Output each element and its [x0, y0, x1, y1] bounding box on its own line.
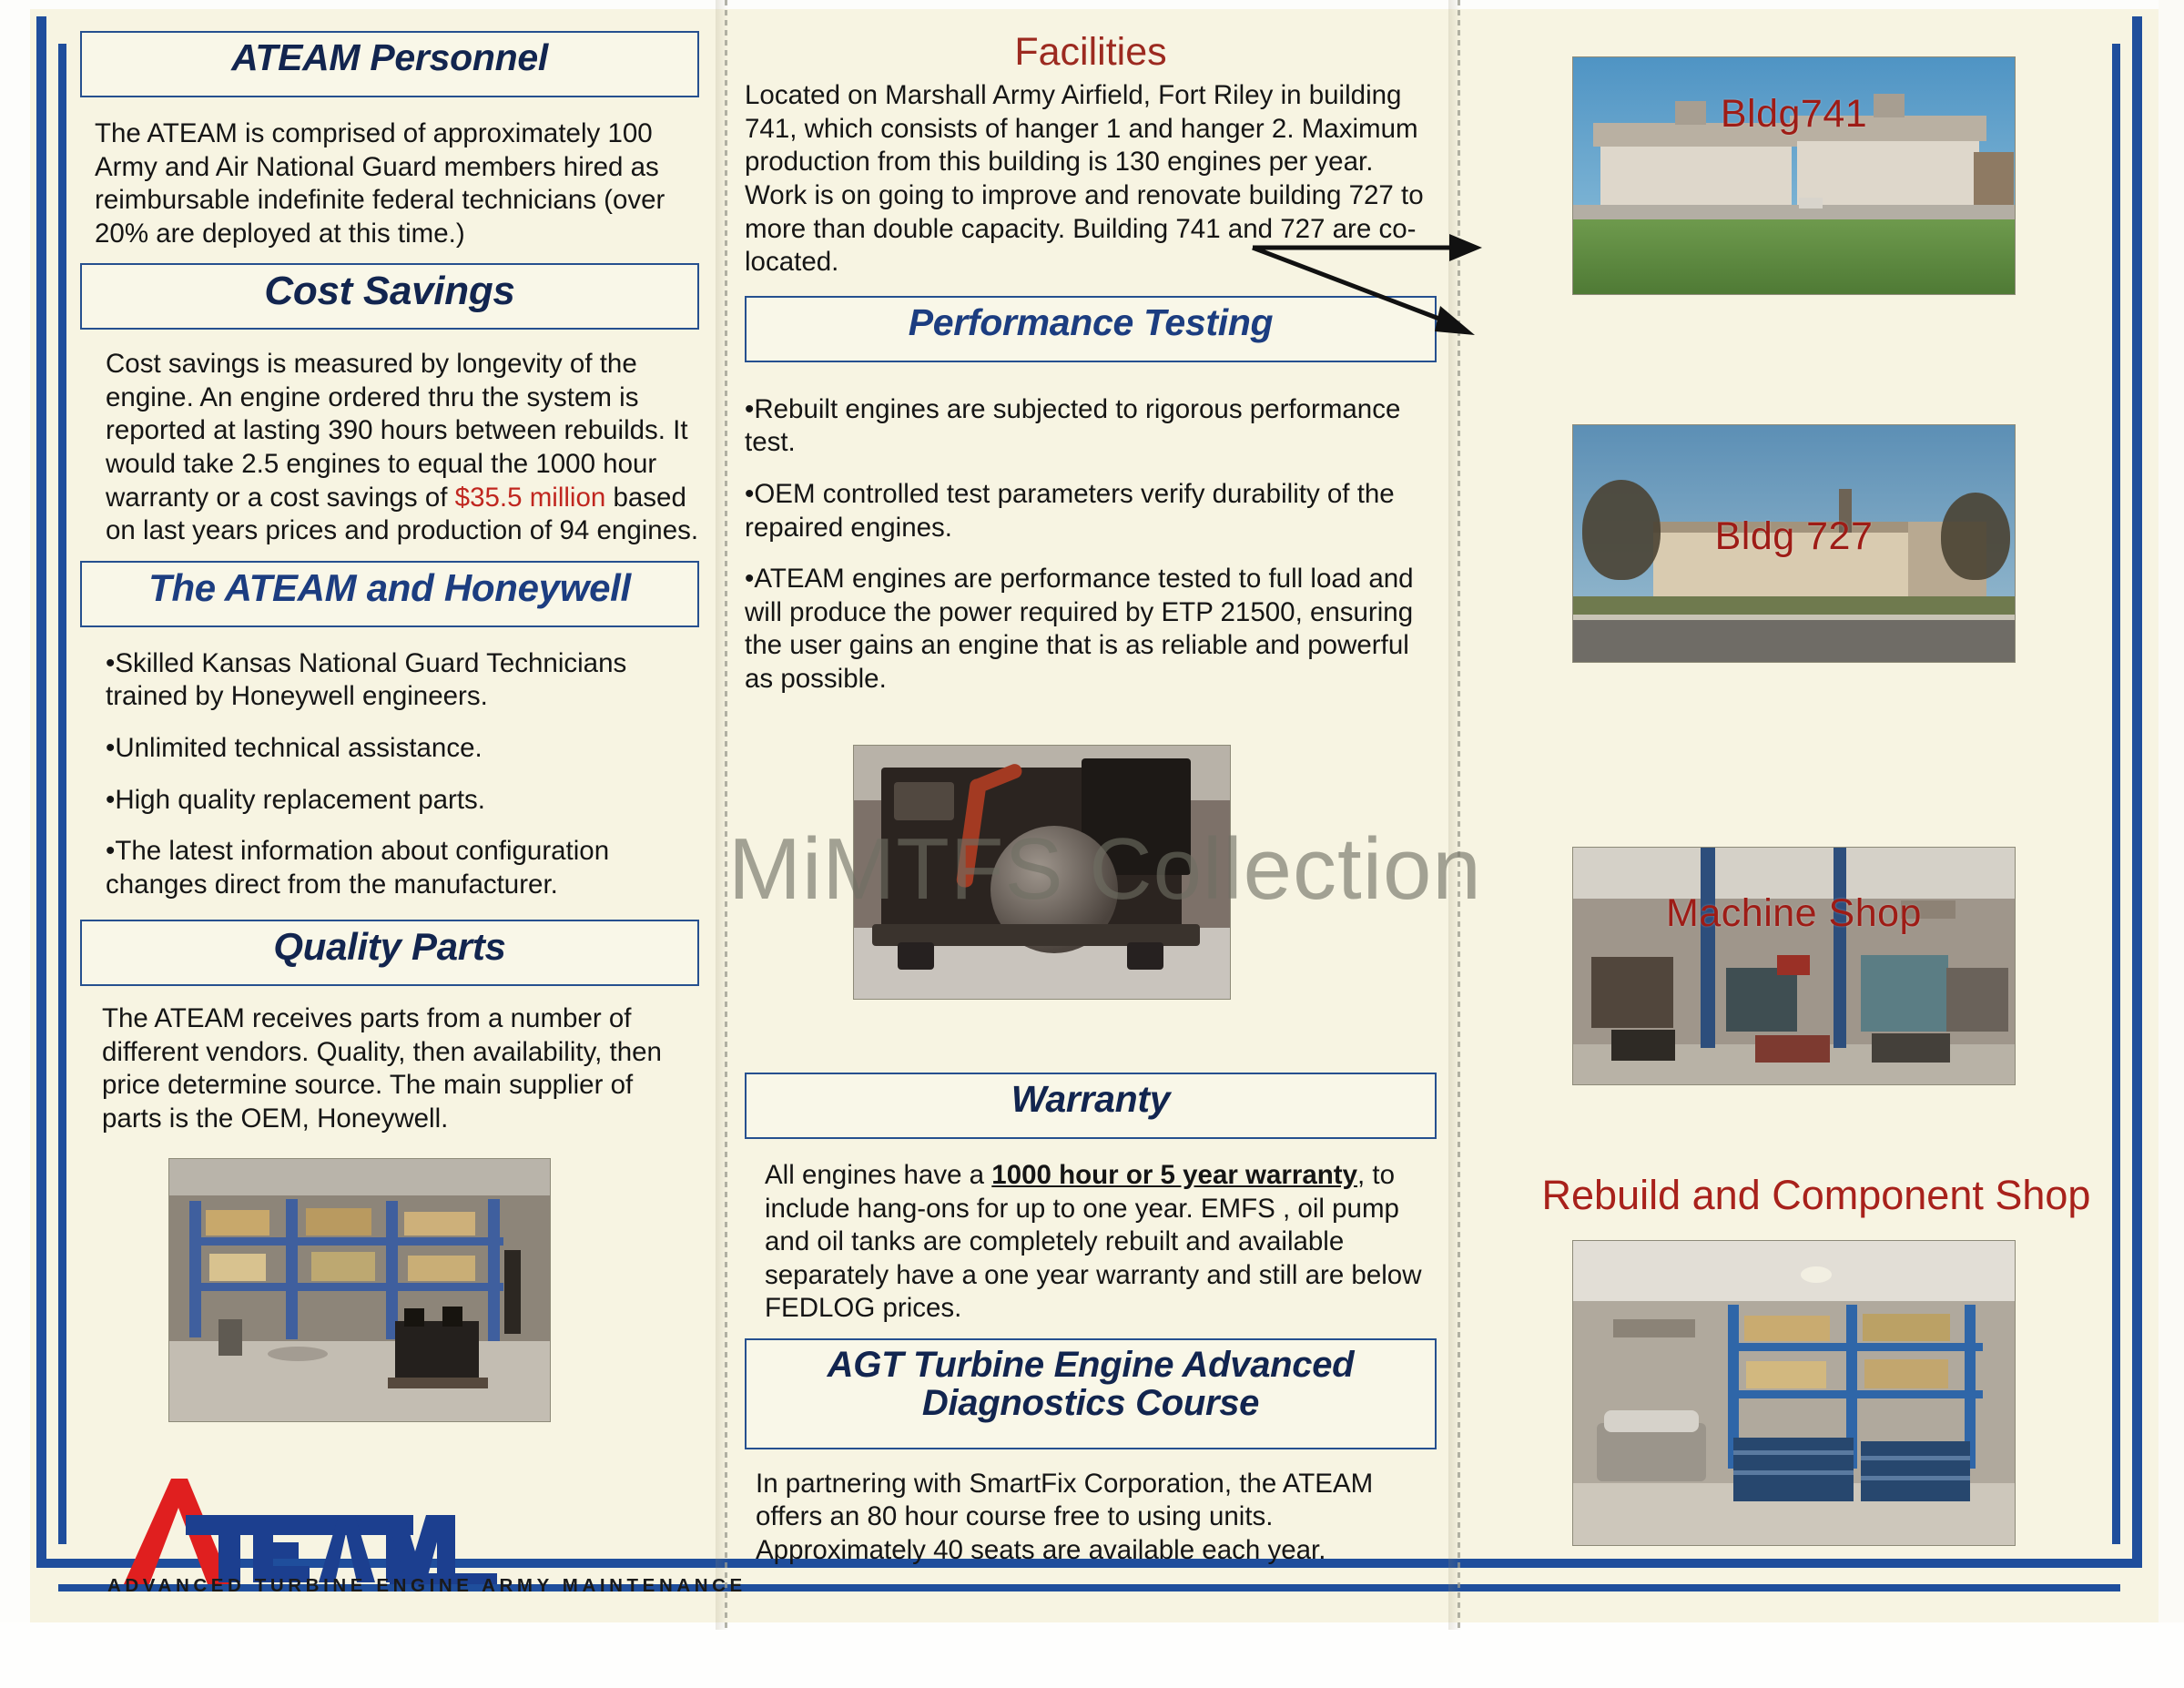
- body-cost-savings: Cost savings is measured by longevity of…: [80, 348, 699, 547]
- arrow-head-down: [1435, 306, 1475, 335]
- middle-panel: Facilities Located on Marshall Army Airf…: [745, 31, 1437, 714]
- scan-edge-bottom: [0, 1622, 2184, 1688]
- heading-warranty: Warranty: [756, 1080, 1426, 1119]
- parts-warehouse-photo: [168, 1158, 551, 1422]
- body-warranty: All engines have a 1000 hour or 5 year w…: [745, 1159, 1437, 1326]
- body-quality-parts: The ATEAM receives parts from a number o…: [80, 1002, 699, 1135]
- scan-edge-right: [2159, 0, 2184, 1688]
- section-header-warranty: Warranty: [745, 1073, 1437, 1139]
- warranty-text-1: All engines have a: [765, 1160, 991, 1190]
- heading-ateam-personnel: ATEAM Personnel: [91, 38, 688, 77]
- building-741-exterior-photo: Bldg741: [1572, 56, 2016, 295]
- bullet-honeywell-2: •Unlimited technical assistance.: [106, 732, 699, 766]
- body-agt-course: In partnering with SmartFix Corporation,…: [745, 1468, 1437, 1568]
- border-rule-inner-right: [2112, 44, 2120, 1544]
- cost-savings-highlight: $35.5 million: [455, 483, 606, 513]
- bullet-honeywell-3: •High quality replacement parts.: [106, 784, 699, 818]
- photo-label-machine-shop: Machine Shop: [1573, 891, 2015, 936]
- heading-rebuild-component-shop: Rebuild and Component Shop: [1479, 1173, 2153, 1218]
- machine-shop-interior-photo: Machine Shop: [1572, 847, 2016, 1085]
- paragraph-quality-parts: The ATEAM receives parts from a number o…: [102, 1002, 699, 1135]
- paragraph-personnel: The ATEAM is comprised of approximately …: [95, 117, 699, 250]
- arrow-head-up: [1449, 234, 1482, 261]
- warranty-emphasis: 1000 hour or 5 year warranty: [991, 1160, 1357, 1190]
- bullet-performance-3: •ATEAM engines are performance tested to…: [745, 563, 1437, 696]
- bullets-honeywell: •Skilled Kansas National Guard Technicia…: [80, 647, 699, 901]
- photo-label-bldg741: Bldg741: [1573, 92, 2015, 137]
- section-header-ateam-honeywell: The ATEAM and Honeywell: [80, 561, 699, 627]
- pointer-arrows: [1247, 209, 1493, 337]
- ateam-logo: [117, 1468, 499, 1586]
- heading-quality-parts: Quality Parts: [91, 927, 688, 968]
- rebuild-component-shop-photo: [1572, 1240, 2016, 1546]
- fold-line-1: [725, 0, 727, 1630]
- bullet-honeywell-4: •The latest information about configurat…: [106, 835, 699, 901]
- heading-facilities: Facilities: [745, 31, 1437, 74]
- turbine-engine-test-photo: [853, 745, 1231, 1000]
- body-ateam-personnel: The ATEAM is comprised of approximately …: [80, 117, 699, 250]
- section-header-agt-course: AGT Turbine Engine Advanced Diagnostics …: [745, 1338, 1437, 1449]
- logo-tagline: ADVANCED TURBINE ENGINE ARMY MAINTENANCE: [107, 1575, 747, 1597]
- bullet-honeywell-1: •Skilled Kansas National Guard Technicia…: [106, 647, 699, 714]
- heading-cost-savings: Cost Savings: [91, 270, 688, 313]
- bullet-performance-1: •Rebuilt engines are subjected to rigoro…: [745, 393, 1437, 460]
- section-header-ateam-personnel: ATEAM Personnel: [80, 31, 699, 97]
- brochure-page: ATEAM Personnel The ATEAM is comprised o…: [0, 0, 2184, 1688]
- heading-ateam-honeywell: The ATEAM and Honeywell: [91, 568, 688, 609]
- border-rule-outer-right: [2132, 16, 2142, 1564]
- photo-label-bldg727: Bldg 727: [1573, 514, 2015, 559]
- paragraph-cost-savings: Cost savings is measured by longevity of…: [106, 348, 699, 547]
- logo-blue-team-text: [186, 1515, 497, 1584]
- scan-edge-top: [0, 0, 2184, 9]
- section-header-quality-parts: Quality Parts: [80, 920, 699, 986]
- heading-agt-course-line2: Diagnostics Course: [756, 1384, 1426, 1422]
- paragraph-warranty: All engines have a 1000 hour or 5 year w…: [765, 1159, 1437, 1326]
- scan-edge-left: [0, 0, 30, 1688]
- bullet-performance-2: •OEM controlled test parameters verify d…: [745, 478, 1437, 544]
- paragraph-agt-course: In partnering with SmartFix Corporation,…: [756, 1468, 1437, 1568]
- bullets-performance-testing: •Rebuilt engines are subjected to rigoro…: [745, 393, 1437, 697]
- building-727-exterior-photo: Bldg 727: [1572, 424, 2016, 663]
- border-rule-outer-left: [36, 16, 46, 1564]
- section-header-cost-savings: Cost Savings: [80, 263, 699, 330]
- heading-agt-course-line1: AGT Turbine Engine Advanced: [756, 1346, 1426, 1384]
- middle-panel-lower: Warranty All engines have a 1000 hour or…: [745, 1073, 1437, 1581]
- border-rule-inner-left: [58, 44, 66, 1544]
- left-panel: ATEAM Personnel The ATEAM is comprised o…: [80, 31, 699, 1149]
